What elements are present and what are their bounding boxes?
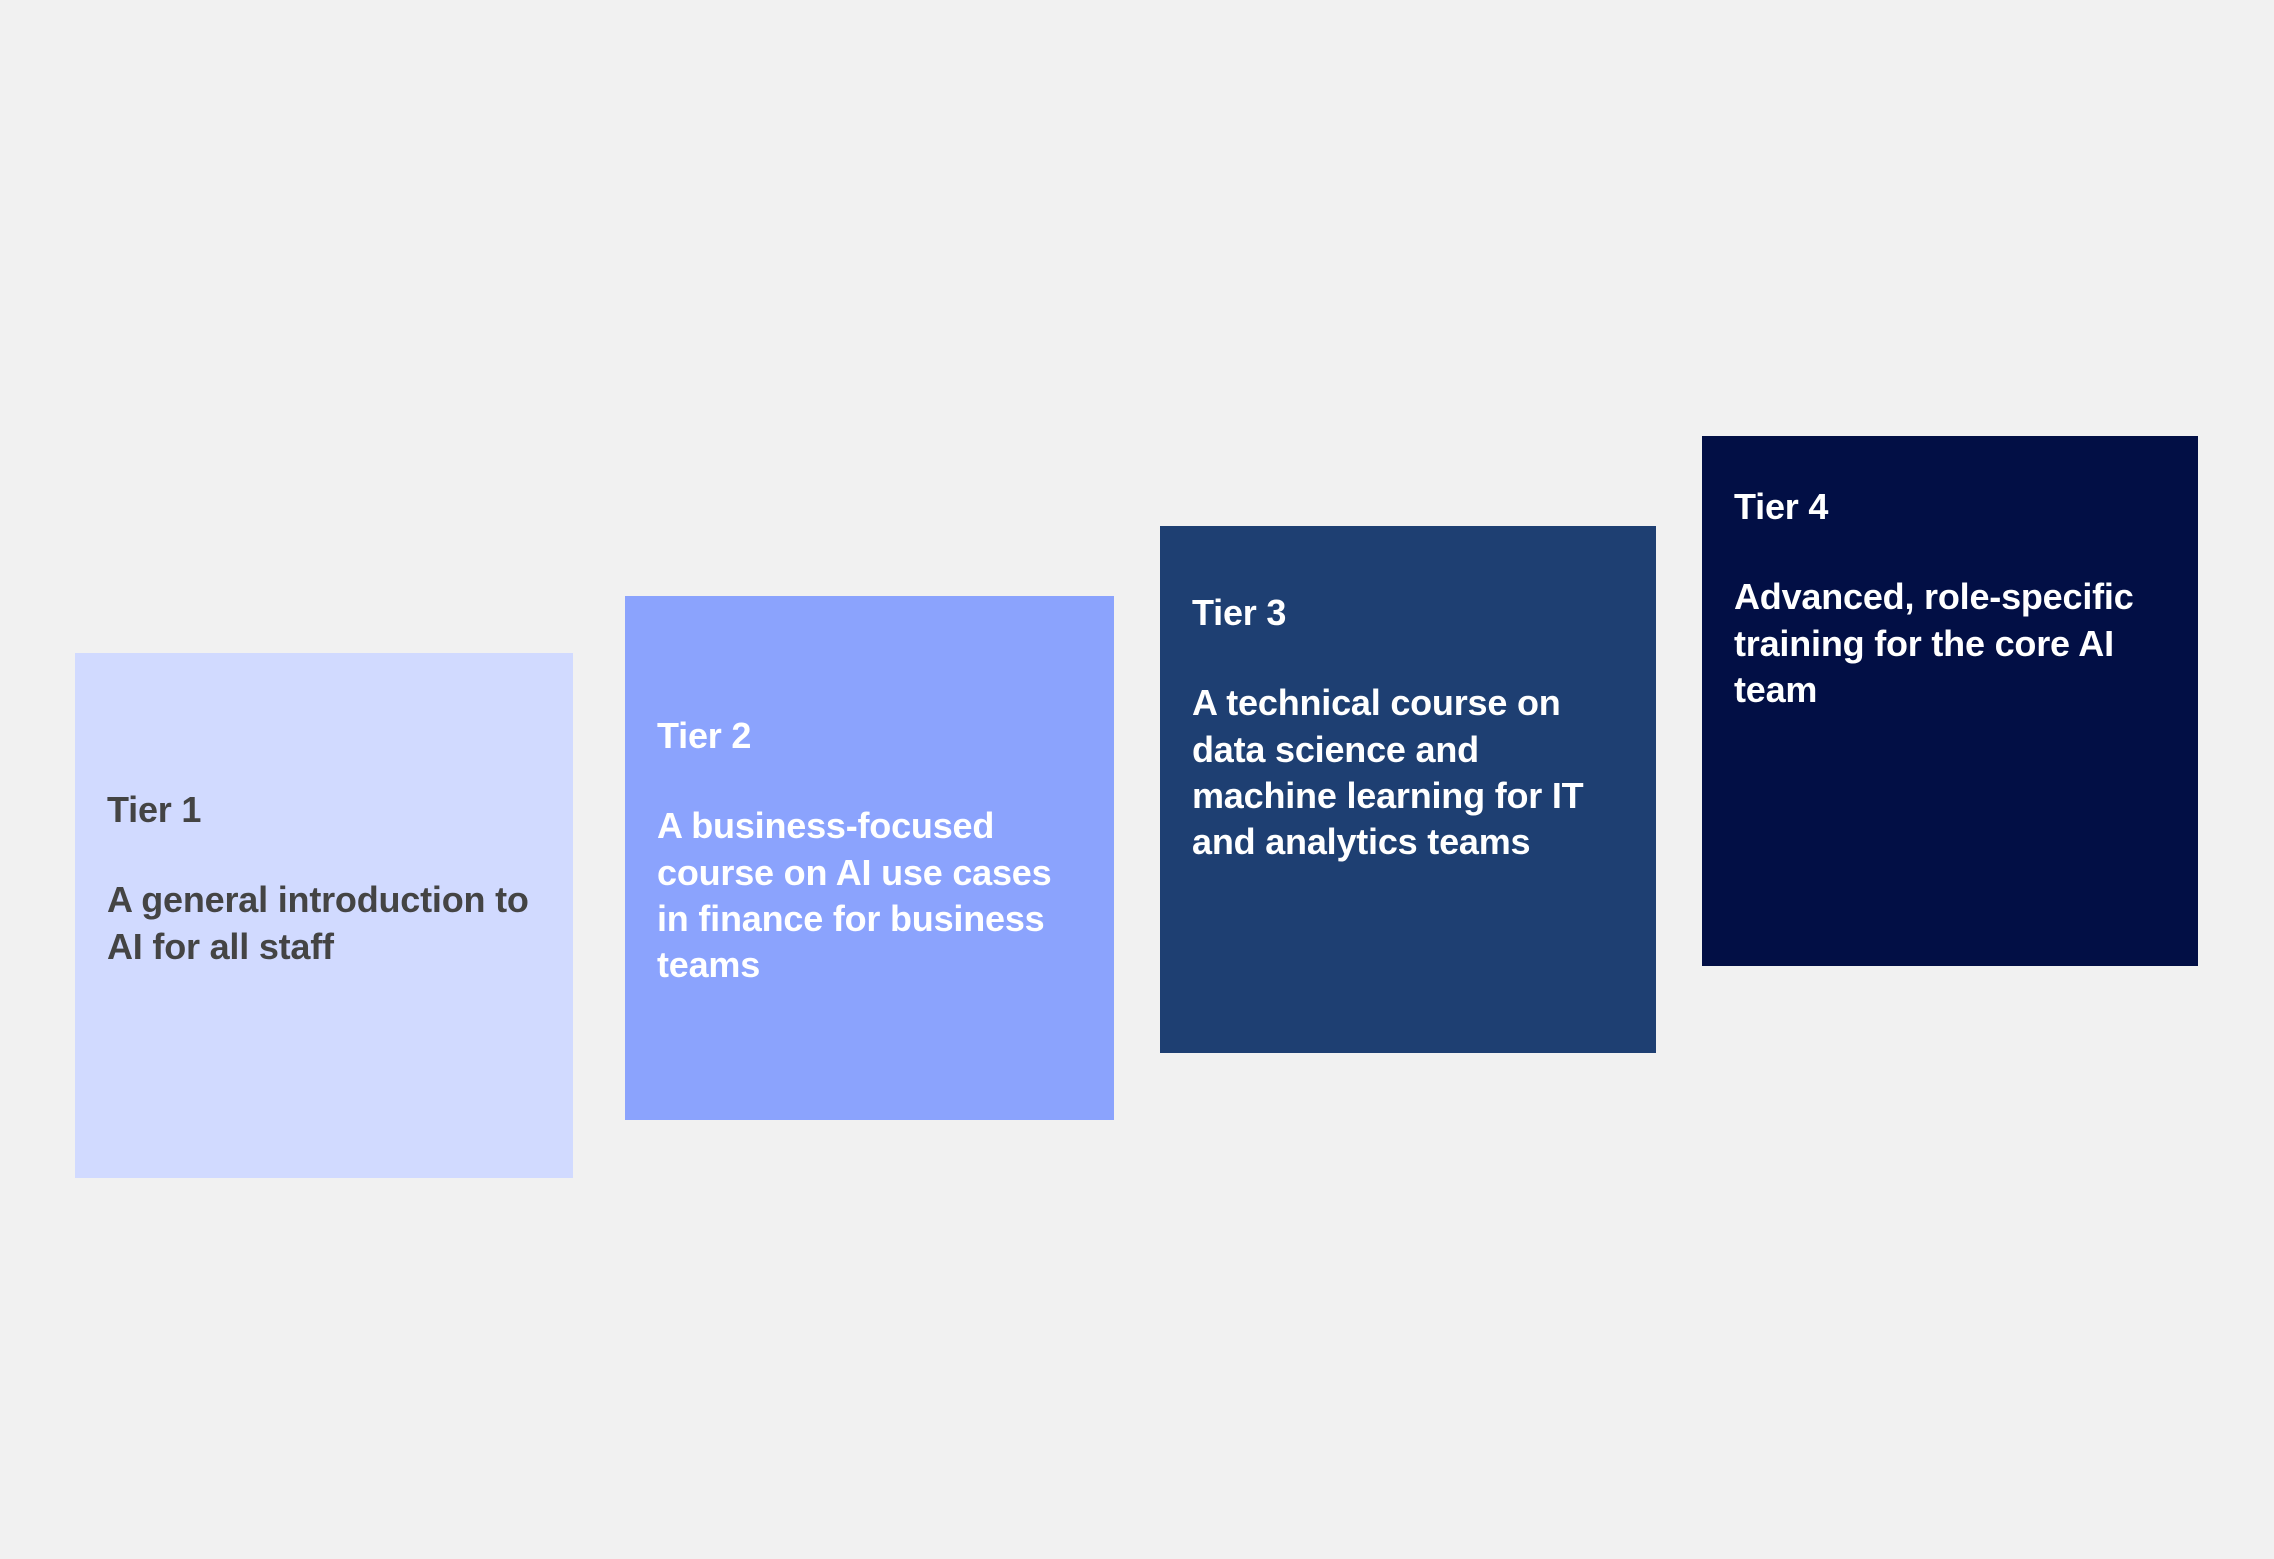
tier-card-4-content: Tier 4 Advanced, role-specific training … — [1734, 486, 2172, 713]
tier-card-3-description: A technical course on data science and m… — [1192, 680, 1630, 864]
tier-card-2[interactable]: Tier 2 A business-focused course on AI u… — [625, 596, 1114, 1120]
tier-card-4-label: Tier 4 — [1734, 486, 2172, 528]
tier-card-1-label: Tier 1 — [107, 789, 547, 831]
tier-card-2-content: Tier 2 A business-focused course on AI u… — [657, 715, 1088, 988]
tier-card-2-description: A business-focused course on AI use case… — [657, 803, 1088, 987]
tier-card-3-label: Tier 3 — [1192, 592, 1630, 634]
tier-card-2-label: Tier 2 — [657, 715, 1088, 757]
tier-card-4-description: Advanced, role-specific training for the… — [1734, 574, 2172, 712]
tier-card-1[interactable]: Tier 1 A general introduction to AI for … — [75, 653, 573, 1178]
tier-card-3[interactable]: Tier 3 A technical course on data scienc… — [1160, 526, 1656, 1053]
tier-card-3-content: Tier 3 A technical course on data scienc… — [1192, 592, 1630, 865]
diagram-canvas: Tier 1 A general introduction to AI for … — [0, 0, 2274, 1559]
tier-card-1-description: A general introduction to AI for all sta… — [107, 877, 547, 969]
tier-card-4[interactable]: Tier 4 Advanced, role-specific training … — [1702, 436, 2198, 966]
tier-card-1-content: Tier 1 A general introduction to AI for … — [107, 789, 547, 970]
